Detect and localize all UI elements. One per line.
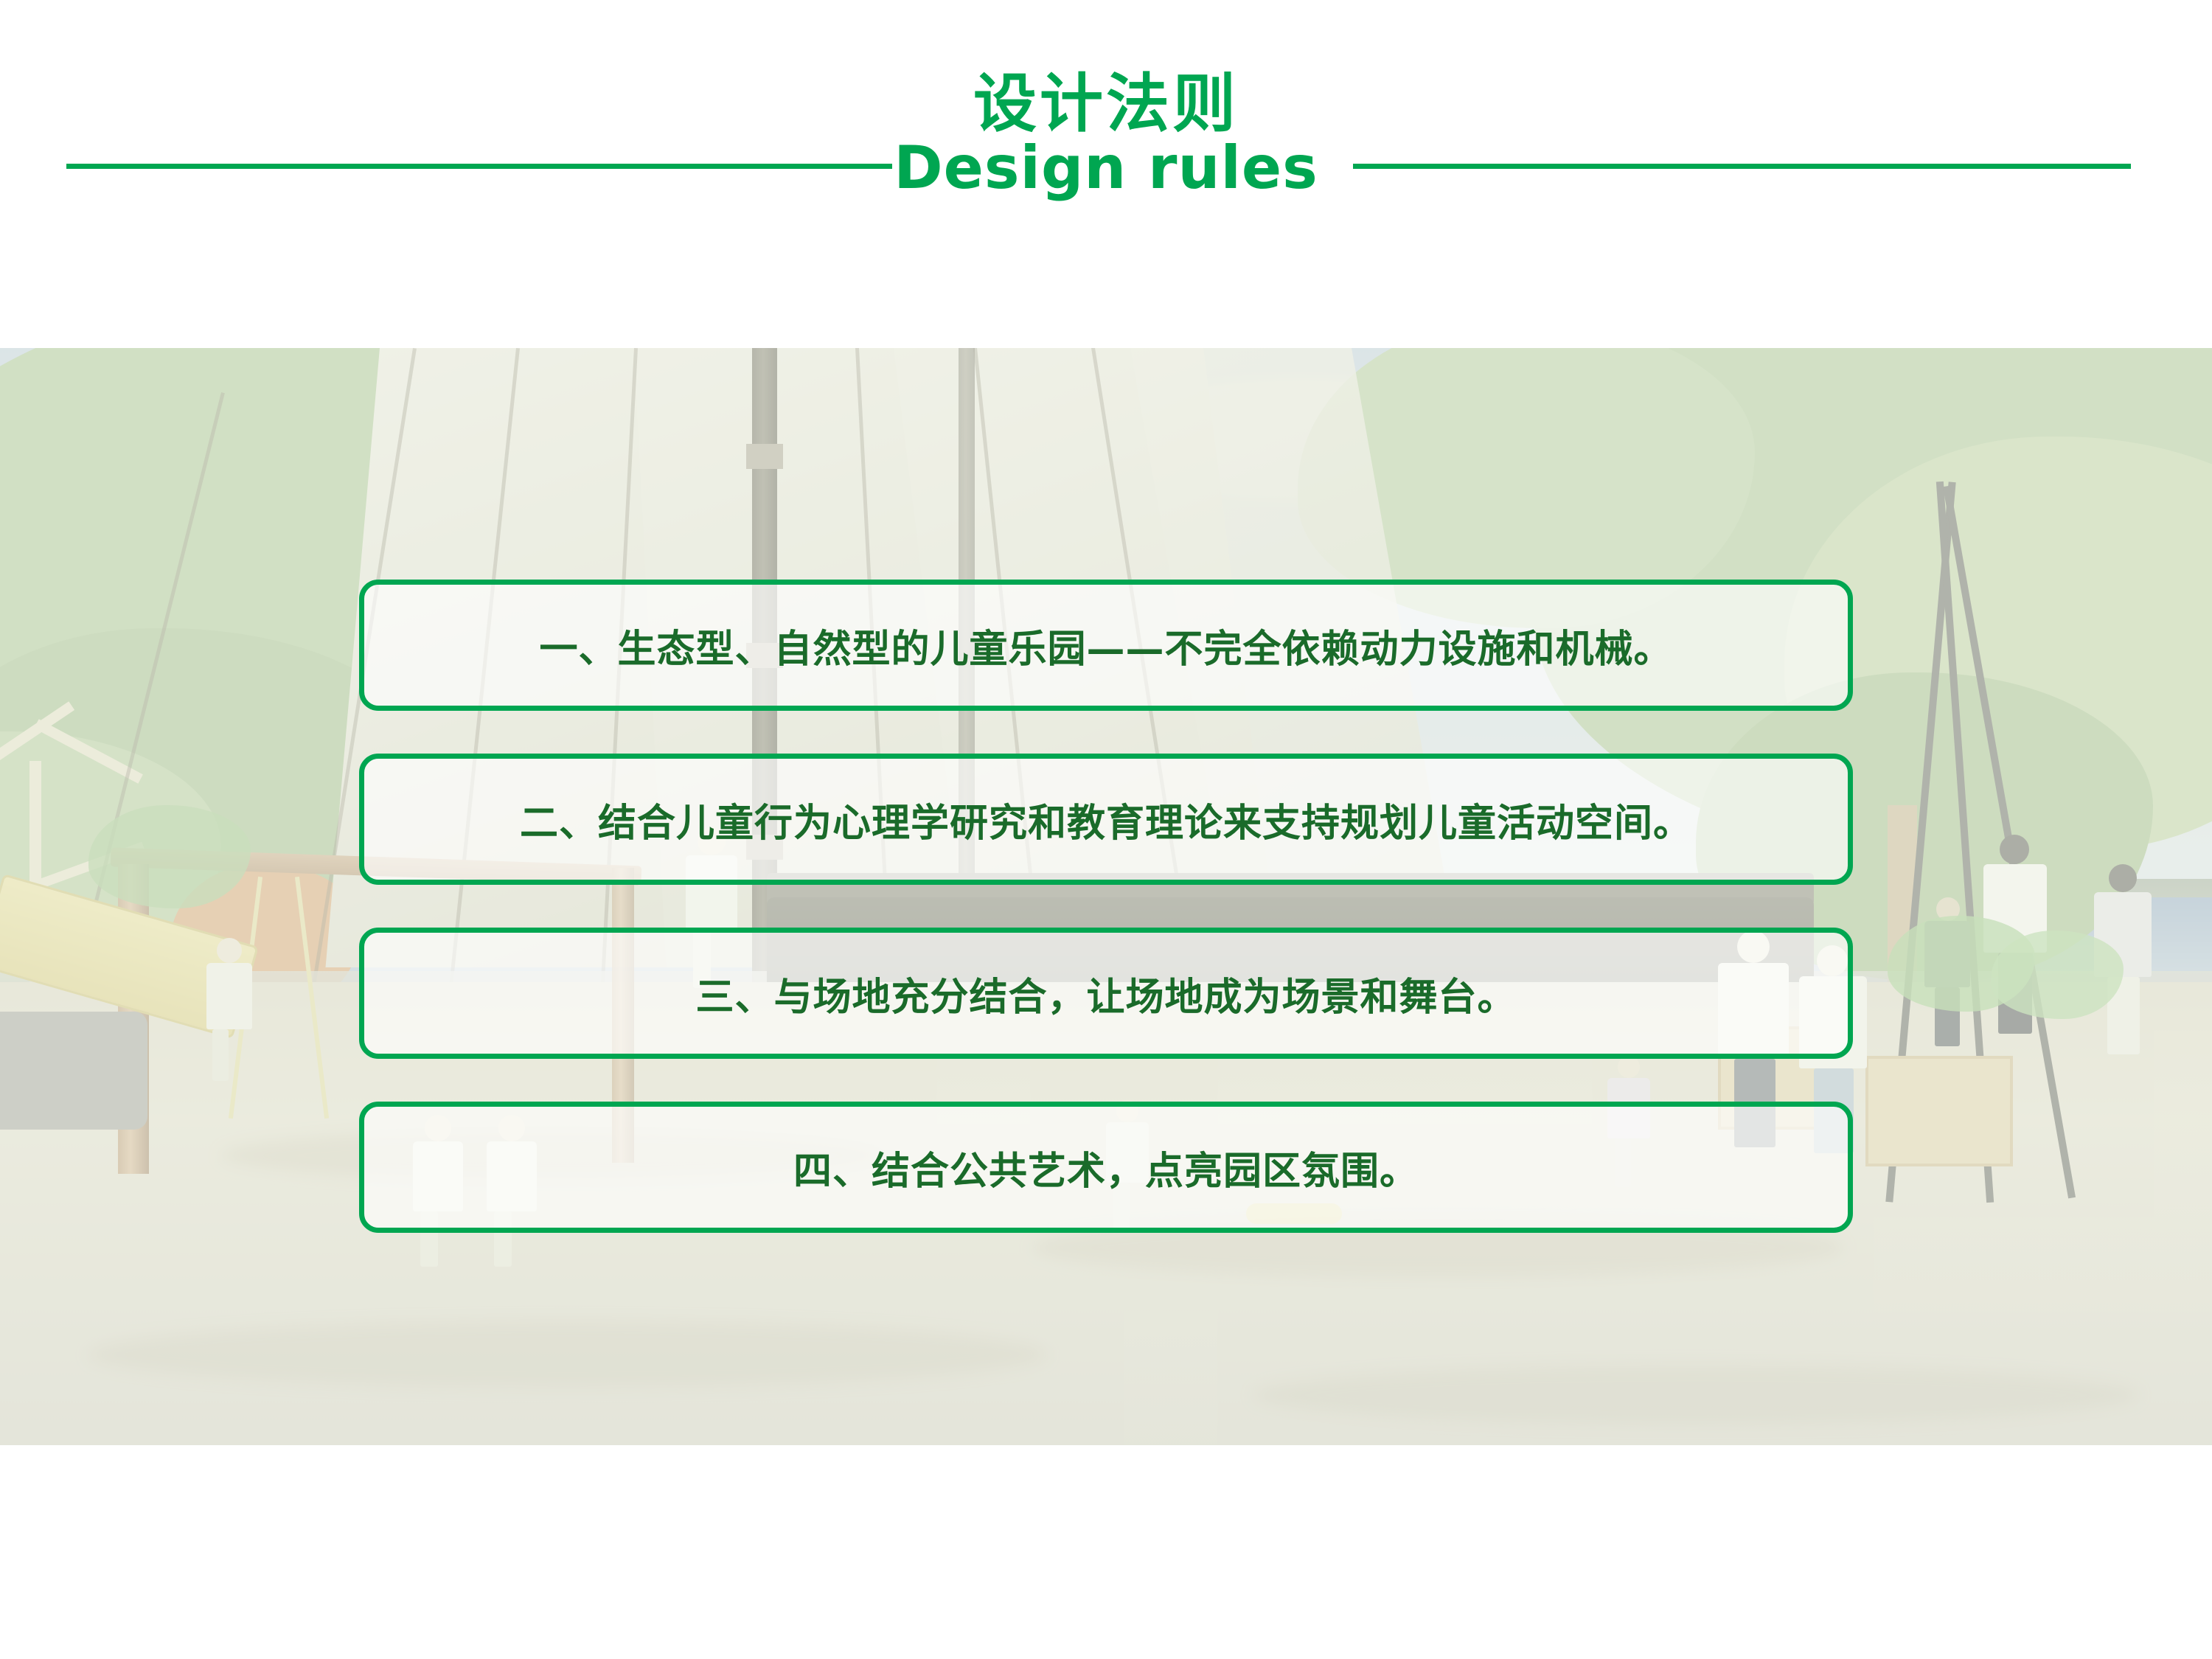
figure-head [217,938,242,963]
rule-item-2[interactable]: 二、结合儿童行为心理学研究和教育理论来支持规划儿童活动空间。 [359,754,1853,885]
header-divider-right [1353,164,2131,169]
rule-item-1-label: 一、生态型、自然型的儿童乐园——不完全依赖动力设施和机械。 [539,618,1672,673]
rule-item-4[interactable]: 四、结合公共艺术，点亮园区氛围。 [359,1102,1853,1233]
design-rules-list: 一、生态型、自然型的儿童乐园——不完全依赖动力设施和机械。 二、结合儿童行为心理… [359,580,1853,1276]
page-title: 设计法则 Design rules [894,71,1318,199]
mast-band [746,444,783,469]
wooden-crate [1865,1056,2013,1166]
sand-texture [88,1321,1047,1388]
figure-head [2109,864,2137,892]
page-title-english: Design rules [894,137,1318,199]
rule-item-3[interactable]: 三、与场地充分结合，让场地成为场景和舞台。 [359,928,1853,1059]
child-figure [206,938,252,1081]
rule-item-4-label: 四、结合公共艺术，点亮园区氛围。 [793,1140,1419,1195]
slide-root: 设计法则 Design rules [0,0,2212,1659]
page-title-chinese: 设计法则 [894,71,1318,137]
slide-support [0,1012,147,1130]
figure-head [2000,835,2029,864]
rule-item-3-label: 三、与场地充分结合，让场地成为场景和舞台。 [695,966,1516,1021]
sand-texture [1253,1366,2138,1425]
shrub [1991,931,2124,1019]
figure-legs [212,1029,229,1081]
shrub [88,805,251,908]
rule-item-2-label: 二、结合儿童行为心理学研究和教育理论来支持规划儿童活动空间。 [520,792,1692,847]
slide-header: 设计法则 Design rules [0,0,2212,251]
rule-item-1[interactable]: 一、生态型、自然型的儿童乐园——不完全依赖动力设施和机械。 [359,580,1853,711]
header-divider-left [66,164,892,169]
figure-body [206,963,252,1029]
